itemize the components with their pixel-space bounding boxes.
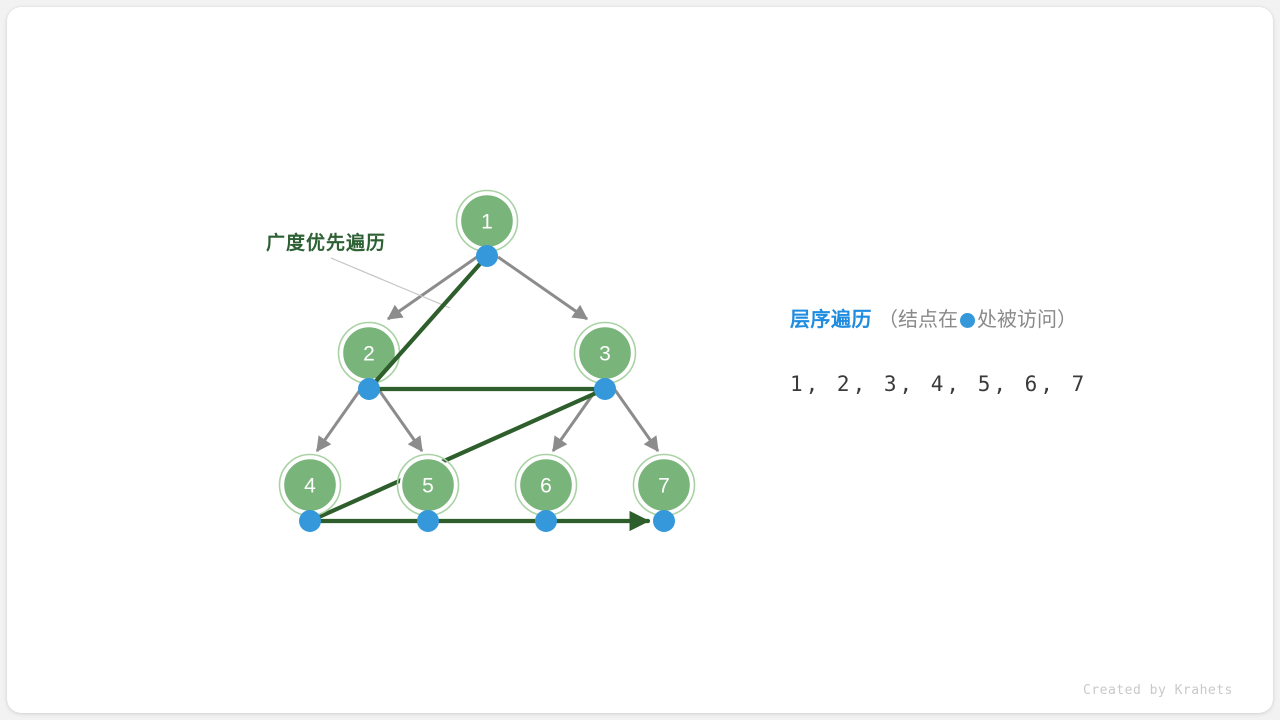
credit-text: Created by Krahets [1083,683,1233,698]
visit-dot-icon-6[interactable] [535,510,557,532]
node-4[interactable]: 4 [280,455,341,516]
page-background: 1 2 3 [0,0,1280,720]
legend-title: 层序遍历 [790,309,872,331]
visit-dot-icon [960,313,975,328]
node-5-label: 5 [422,475,434,498]
legend-note-open: （结点在 [878,309,958,331]
tree-edge-3-7 [615,390,658,451]
tree-edge-3-6 [553,390,596,451]
node-7-label: 7 [658,475,670,498]
slide-card: 1 2 3 [7,7,1273,713]
node-1[interactable]: 1 [457,191,518,252]
label-leader-line [331,258,450,308]
node-2-label: 2 [363,343,375,366]
legend-block: 层序遍历（结点在处被访问） [790,307,1230,333]
node-7[interactable]: 7 [634,455,695,516]
node-4-label: 4 [304,475,316,498]
tree-edge-1-3 [498,257,587,319]
bfs-annotation-label: 广度优先遍历 [266,228,386,255]
node-3-label: 3 [599,343,611,366]
visit-dot-icon-5[interactable] [417,510,439,532]
legend-line: 层序遍历（结点在处被访问） [790,307,1230,333]
traversal-segment-1-2 [369,256,487,389]
traversal-sequence-text: 1, 2, 3, 4, 5, 6, 7 [790,372,1087,396]
node-6-label: 6 [540,475,552,498]
tree-edge-2-4 [317,390,360,451]
visit-dot-icon-4[interactable] [299,510,321,532]
node-5[interactable]: 5 [398,455,459,516]
node-6[interactable]: 6 [516,455,577,516]
node-3[interactable]: 3 [575,323,636,384]
visit-dot-icon-7[interactable] [653,510,675,532]
node-2[interactable]: 2 [339,323,400,384]
legend-note-close: 处被访问） [977,309,1077,331]
tree-edge-2-5 [379,390,422,451]
visit-dot-icon-1[interactable] [476,245,498,267]
binary-tree-graphic: 1 2 3 [7,7,1273,713]
visit-dot-icon-3[interactable] [594,378,616,400]
visit-dot-icon-2[interactable] [358,378,380,400]
node-1-label: 1 [481,211,493,234]
diagram-canvas: 1 2 3 [7,7,1273,713]
